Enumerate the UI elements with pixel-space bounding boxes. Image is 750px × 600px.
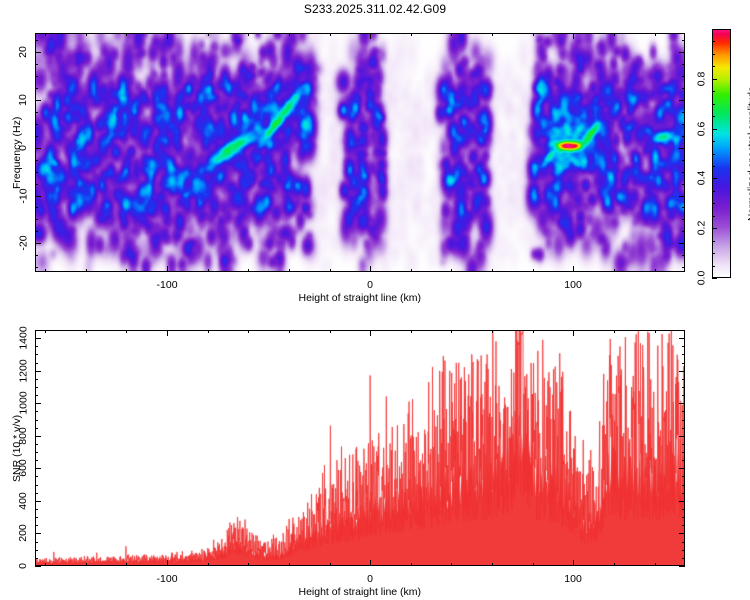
y-tick — [35, 112, 38, 113]
y-tick-label: -20 — [17, 236, 29, 251]
y-tick — [35, 354, 38, 355]
y-tick — [35, 387, 38, 388]
x-tick-top — [492, 330, 493, 333]
y-tick — [35, 558, 38, 559]
snr-plot-area — [35, 330, 685, 566]
x-tick-top — [248, 330, 249, 333]
x-tick-top — [533, 33, 534, 36]
y-tick-right — [682, 476, 685, 477]
x-tick — [451, 269, 452, 272]
colorbar-tick — [712, 191, 715, 192]
x-tick-top — [614, 330, 615, 333]
y-tick — [35, 501, 41, 502]
y-tick-right — [682, 267, 685, 268]
y-tick — [35, 172, 38, 173]
y-tick-right — [682, 207, 685, 208]
x-tick — [614, 563, 615, 566]
y-tick — [35, 196, 41, 197]
y-tick-right — [682, 64, 685, 65]
x-tick — [167, 560, 168, 566]
colorbar-tick — [712, 241, 715, 242]
x-tick-label: 100 — [564, 573, 582, 585]
x-tick — [248, 269, 249, 272]
colorbar-tick — [712, 216, 715, 217]
x-tick-top — [167, 33, 168, 39]
y-tick — [35, 493, 38, 494]
x-tick-label: 100 — [564, 279, 582, 291]
page-title: S233.2025.311.02.42.G09 — [0, 2, 750, 16]
y-tick — [35, 219, 38, 220]
colorbar-tick-label: 0.8 — [695, 71, 707, 86]
x-tick — [208, 269, 209, 272]
y-tick — [35, 468, 41, 469]
x-tick-top — [370, 330, 371, 336]
x-tick-top — [330, 33, 331, 36]
y-tick-right — [679, 338, 685, 339]
y-tick — [35, 160, 38, 161]
y-tick — [35, 517, 38, 518]
x-tick-top — [126, 33, 127, 36]
y-tick — [35, 452, 38, 453]
x-tick — [45, 269, 46, 272]
x-tick — [533, 563, 534, 566]
x-tick — [451, 563, 452, 566]
colorbar-tick — [712, 29, 715, 30]
y-tick-right — [679, 501, 685, 502]
x-tick — [248, 563, 249, 566]
y-tick-right — [679, 436, 685, 437]
x-tick — [370, 560, 371, 566]
y-tick-right — [682, 485, 685, 486]
x-tick — [126, 563, 127, 566]
y-tick — [35, 403, 41, 404]
y-tick-right — [679, 403, 685, 404]
y-tick — [35, 338, 41, 339]
y-tick-right — [682, 387, 685, 388]
x-tick — [411, 269, 412, 272]
y-tick-right — [682, 460, 685, 461]
x-tick — [167, 266, 168, 272]
y-tick-right — [682, 184, 685, 185]
colorbar-tick — [712, 104, 715, 105]
y-tick — [35, 346, 38, 347]
y-tick-right — [679, 100, 685, 101]
colorbar-tick — [712, 41, 715, 42]
y-tick-right — [682, 428, 685, 429]
x-tick-top — [167, 330, 168, 336]
x-tick-top — [411, 33, 412, 36]
y-tick — [35, 52, 41, 53]
x-tick-label: -100 — [157, 573, 178, 585]
y-tick-label: 400 — [17, 492, 29, 510]
spectrogram-plot-area — [35, 33, 685, 272]
y-tick-right — [682, 493, 685, 494]
y-tick-right — [679, 243, 685, 244]
x-tick — [655, 563, 656, 566]
y-tick-right — [682, 452, 685, 453]
y-tick — [35, 411, 38, 412]
y-tick — [35, 267, 38, 268]
x-tick-top — [289, 33, 290, 36]
colorbar-tick-label: 0.6 — [695, 121, 707, 136]
y-tick-right — [682, 558, 685, 559]
colorbar-canvas — [713, 30, 730, 277]
figure-root: S233.2025.311.02.42.G09 -1000100-20-1001… — [0, 0, 750, 600]
spectrogram-canvas — [36, 34, 684, 271]
y-tick-label: 10 — [17, 94, 29, 106]
x-tick-label: -100 — [157, 279, 178, 291]
y-tick-right — [679, 196, 685, 197]
y-tick-right — [682, 411, 685, 412]
x-tick-top — [655, 330, 656, 333]
y-tick — [35, 533, 41, 534]
colorbar-tick — [712, 116, 715, 117]
x-tick — [86, 563, 87, 566]
y-tick-right — [682, 550, 685, 551]
y-tick-right — [682, 160, 685, 161]
x-tick-top — [86, 33, 87, 36]
y-tick-right — [682, 363, 685, 364]
x-tick — [126, 269, 127, 272]
y-tick-right — [682, 354, 685, 355]
colorbar-tick — [712, 141, 715, 142]
x-tick-top — [248, 33, 249, 36]
x-tick-top — [208, 33, 209, 36]
x-tick-top — [614, 33, 615, 36]
x-tick — [330, 563, 331, 566]
x-tick-top — [451, 33, 452, 36]
y-tick — [35, 525, 38, 526]
y-tick — [35, 100, 41, 101]
y-tick-label: 1000 — [17, 392, 29, 415]
x-tick — [289, 269, 290, 272]
x-tick-label: 0 — [367, 279, 373, 291]
y-tick — [35, 363, 38, 364]
x-tick — [614, 269, 615, 272]
colorbar-tick — [712, 66, 715, 67]
colorbar-tick — [712, 79, 717, 80]
x-tick — [533, 269, 534, 272]
x-tick — [330, 269, 331, 272]
x-tick — [573, 560, 574, 566]
colorbar-tick-label: 0.2 — [695, 221, 707, 236]
y-tick-right — [682, 219, 685, 220]
colorbar-tick — [712, 278, 717, 279]
y-tick-right — [682, 172, 685, 173]
colorbar-tick-label: 0.4 — [695, 171, 707, 186]
y-tick — [35, 542, 38, 543]
y-tick — [35, 444, 38, 445]
y-tick-right — [682, 395, 685, 396]
colorbar-tick — [712, 266, 715, 267]
y-tick — [35, 255, 38, 256]
y-tick — [35, 485, 38, 486]
x-tick-top — [208, 330, 209, 333]
x-tick-top — [411, 330, 412, 333]
spectrogram-x-axis-label: Height of straight line (km) — [299, 292, 422, 304]
y-tick-right — [682, 112, 685, 113]
y-tick-right — [682, 379, 685, 380]
x-tick — [411, 563, 412, 566]
x-tick-top — [86, 330, 87, 333]
x-tick-top — [45, 33, 46, 36]
y-tick — [35, 420, 38, 421]
y-tick — [35, 428, 38, 429]
x-tick-label: 0 — [367, 573, 373, 585]
y-tick — [35, 371, 41, 372]
y-tick-right — [682, 255, 685, 256]
colorbar-tick-label: 0.0 — [695, 271, 707, 286]
colorbar-tick — [712, 129, 717, 130]
y-tick-right — [682, 124, 685, 125]
y-tick-label: 1400 — [17, 326, 29, 349]
y-tick-right — [682, 517, 685, 518]
y-tick — [35, 395, 38, 396]
y-tick — [35, 231, 38, 232]
x-tick — [573, 266, 574, 272]
y-tick-label: -10 — [17, 188, 29, 203]
y-tick-right — [679, 566, 685, 567]
y-tick-label: 0 — [17, 563, 29, 569]
y-tick-right — [682, 330, 685, 331]
y-tick-right — [682, 444, 685, 445]
colorbar-tick — [712, 91, 715, 92]
y-tick — [35, 184, 38, 185]
y-tick-right — [682, 346, 685, 347]
colorbar-tick — [712, 154, 715, 155]
x-tick — [45, 563, 46, 566]
y-tick — [35, 476, 38, 477]
colorbar-tick — [712, 228, 717, 229]
snr-y-axis-label: SNR (10 * v/v) — [11, 414, 23, 481]
y-tick — [35, 148, 41, 149]
y-tick-label: 1200 — [17, 359, 29, 382]
x-tick-top — [370, 33, 371, 39]
y-tick — [35, 566, 41, 567]
y-tick — [35, 436, 41, 437]
x-tick-top — [655, 33, 656, 36]
x-tick — [492, 563, 493, 566]
x-tick — [289, 563, 290, 566]
x-tick-top — [45, 330, 46, 333]
x-tick-top — [573, 33, 574, 39]
x-tick — [492, 269, 493, 272]
x-tick-top — [492, 33, 493, 36]
colorbar-tick — [712, 253, 715, 254]
y-tick-right — [679, 468, 685, 469]
x-tick-top — [451, 330, 452, 333]
y-tick — [35, 88, 38, 89]
y-tick-right — [682, 136, 685, 137]
y-tick-right — [682, 40, 685, 41]
y-tick-right — [679, 148, 685, 149]
x-tick-top — [330, 330, 331, 333]
y-tick — [35, 460, 38, 461]
x-tick-top — [533, 330, 534, 333]
colorbar-tick — [712, 203, 715, 204]
x-tick — [370, 266, 371, 272]
y-tick — [35, 76, 38, 77]
x-tick — [208, 563, 209, 566]
y-tick — [35, 124, 38, 125]
y-tick-right — [679, 533, 685, 534]
x-tick-top — [289, 330, 290, 333]
y-tick-right — [682, 88, 685, 89]
y-tick — [35, 64, 38, 65]
y-tick-right — [679, 52, 685, 53]
snr-x-axis-label: Height of straight line (km) — [299, 586, 422, 598]
y-tick-right — [682, 420, 685, 421]
y-tick-right — [682, 542, 685, 543]
x-tick — [86, 269, 87, 272]
y-tick-right — [679, 371, 685, 372]
y-tick-label: 200 — [17, 525, 29, 543]
snr-canvas — [36, 331, 684, 565]
y-tick — [35, 243, 41, 244]
x-tick — [655, 269, 656, 272]
y-tick — [35, 330, 38, 331]
y-tick — [35, 379, 38, 380]
spectrogram-y-axis-label: Frequency (Hz) — [11, 116, 23, 188]
y-tick — [35, 136, 38, 137]
y-tick — [35, 40, 38, 41]
y-tick-label: 20 — [17, 46, 29, 58]
y-tick — [35, 207, 38, 208]
y-tick-right — [682, 509, 685, 510]
x-tick-top — [573, 330, 574, 336]
y-tick-right — [682, 525, 685, 526]
y-tick-right — [682, 231, 685, 232]
colorbar-tick — [712, 54, 715, 55]
colorbar-tick — [712, 178, 717, 179]
colorbar-tick — [712, 166, 715, 167]
y-tick-right — [682, 76, 685, 77]
x-tick-top — [126, 330, 127, 333]
y-tick — [35, 550, 38, 551]
y-tick — [35, 509, 38, 510]
